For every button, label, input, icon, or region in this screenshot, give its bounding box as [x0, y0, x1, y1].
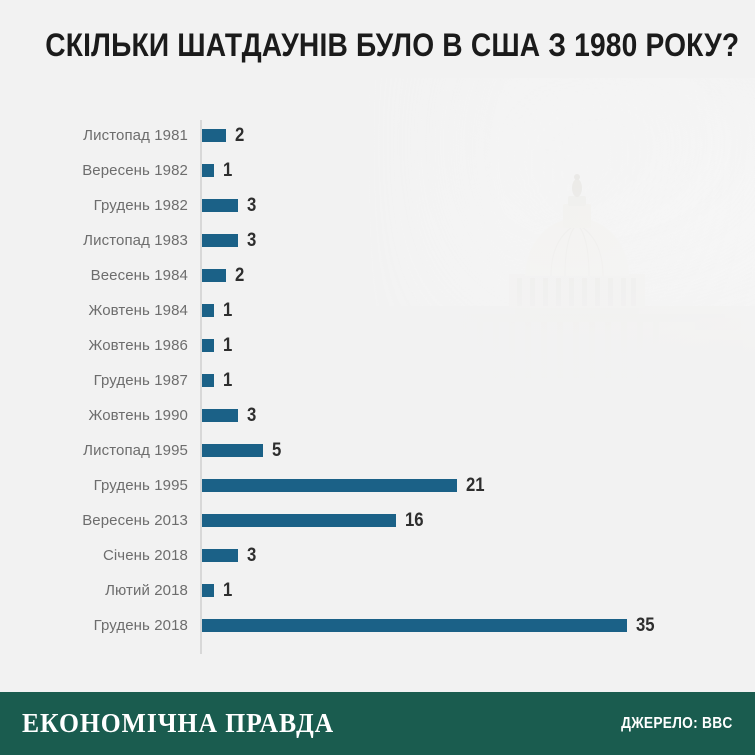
chart-bar — [202, 549, 238, 562]
chart-bar-value: 1 — [223, 300, 232, 322]
chart-row-label: Жовтень 1984 — [0, 302, 188, 319]
chart-row-label: Грудень 2018 — [0, 617, 188, 634]
chart-row-label: Жовтень 1990 — [0, 407, 188, 424]
chart-bar-wrap: 1 — [202, 328, 234, 363]
chart-bar-wrap: 21 — [202, 468, 487, 503]
chart-bar-value: 3 — [247, 195, 256, 217]
chart-row-label: Січень 2018 — [0, 547, 188, 564]
chart-row-label: Листопад 1981 — [0, 127, 188, 144]
chart-row: Грудень 19823 — [0, 188, 755, 223]
chart-bar — [202, 304, 214, 317]
chart-bar — [202, 199, 238, 212]
chart-row-label: Грудень 1987 — [0, 372, 188, 389]
chart-bar — [202, 339, 214, 352]
chart-bar-value: 16 — [405, 510, 424, 532]
chart-row: Січень 20183 — [0, 538, 755, 573]
chart-bar — [202, 129, 226, 142]
chart-bar-wrap: 1 — [202, 153, 234, 188]
source-credit: ДЖЕРЕЛО: BBC — [622, 715, 733, 733]
chart-bar-value: 1 — [223, 580, 232, 602]
chart-bar-wrap: 3 — [202, 223, 258, 258]
chart-rows: Листопад 19812Вересень 19821Грудень 1982… — [0, 118, 755, 643]
chart-bar-wrap: 5 — [202, 433, 282, 468]
chart-bar-wrap: 1 — [202, 573, 234, 608]
chart-row: Грудень 201835 — [0, 608, 755, 643]
chart-bar — [202, 409, 238, 422]
chart-bar-value: 35 — [636, 615, 655, 637]
chart-row-label: Вересень 1982 — [0, 162, 188, 179]
chart-row-label: Лютий 2018 — [0, 582, 188, 599]
chart-row: Грудень 19871 — [0, 363, 755, 398]
chart-bar-value: 1 — [223, 160, 232, 182]
chart-bar-value: 1 — [223, 335, 232, 357]
chart-bar-wrap: 3 — [202, 538, 258, 573]
chart-bar — [202, 269, 226, 282]
chart-bar-value: 3 — [247, 545, 256, 567]
chart-bar-value: 3 — [247, 230, 256, 252]
chart-bar-wrap: 2 — [202, 118, 246, 153]
chart-bar-value: 1 — [223, 370, 232, 392]
chart-row-label: Веесень 1984 — [0, 267, 188, 284]
chart-bar-wrap: 2 — [202, 258, 246, 293]
chart-row-label: Грудень 1982 — [0, 197, 188, 214]
chart-row: Грудень 199521 — [0, 468, 755, 503]
chart-row: Вересень 19821 — [0, 153, 755, 188]
chart-row-label: Жовтень 1986 — [0, 337, 188, 354]
chart-row-label: Листопад 1983 — [0, 232, 188, 249]
chart-row: Жовтень 19903 — [0, 398, 755, 433]
chart-row: Листопад 19955 — [0, 433, 755, 468]
chart-row-label: Грудень 1995 — [0, 477, 188, 494]
chart-row: Листопад 19833 — [0, 223, 755, 258]
chart-bar — [202, 619, 627, 632]
chart-row: Вересень 201316 — [0, 503, 755, 538]
chart-bar-wrap: 16 — [202, 503, 426, 538]
page-title: СКІЛЬКИ ШАТДАУНІВ БУЛО В США З 1980 РОКУ… — [45, 28, 709, 63]
chart-bar-value: 2 — [235, 265, 244, 287]
chart-row: Жовтень 19841 — [0, 293, 755, 328]
chart-bar-value: 2 — [235, 125, 244, 147]
chart-bar — [202, 374, 214, 387]
chart-bar-wrap: 1 — [202, 293, 234, 328]
chart-bar-value: 21 — [466, 475, 485, 497]
chart-bar — [202, 164, 214, 177]
chart-row: Листопад 19812 — [0, 118, 755, 153]
chart-bar-wrap: 3 — [202, 188, 258, 223]
chart-bar — [202, 514, 396, 527]
infographic-root: СКІЛЬКИ ШАТДАУНІВ БУЛО В США З 1980 РОКУ… — [0, 0, 755, 755]
brand-logo: ЕКОНОМІЧНА ПРАВДА — [22, 708, 334, 739]
chart-bar — [202, 584, 214, 597]
chart-row: Лютий 20181 — [0, 573, 755, 608]
bar-chart: Листопад 19812Вересень 19821Грудень 1982… — [0, 118, 755, 658]
chart-bar — [202, 234, 238, 247]
chart-bar — [202, 479, 457, 492]
footer-bar: ЕКОНОМІЧНА ПРАВДА ДЖЕРЕЛО: BBC — [0, 692, 755, 755]
chart-row: Веесень 19842 — [0, 258, 755, 293]
chart-bar-value: 3 — [247, 405, 256, 427]
chart-bar-wrap: 3 — [202, 398, 258, 433]
chart-row: Жовтень 19861 — [0, 328, 755, 363]
chart-bar-wrap: 35 — [202, 608, 657, 643]
chart-bar-value: 5 — [272, 440, 281, 462]
chart-row-label: Вересень 2013 — [0, 512, 188, 529]
chart-bar-wrap: 1 — [202, 363, 234, 398]
chart-row-label: Листопад 1995 — [0, 442, 188, 459]
chart-bar — [202, 444, 263, 457]
